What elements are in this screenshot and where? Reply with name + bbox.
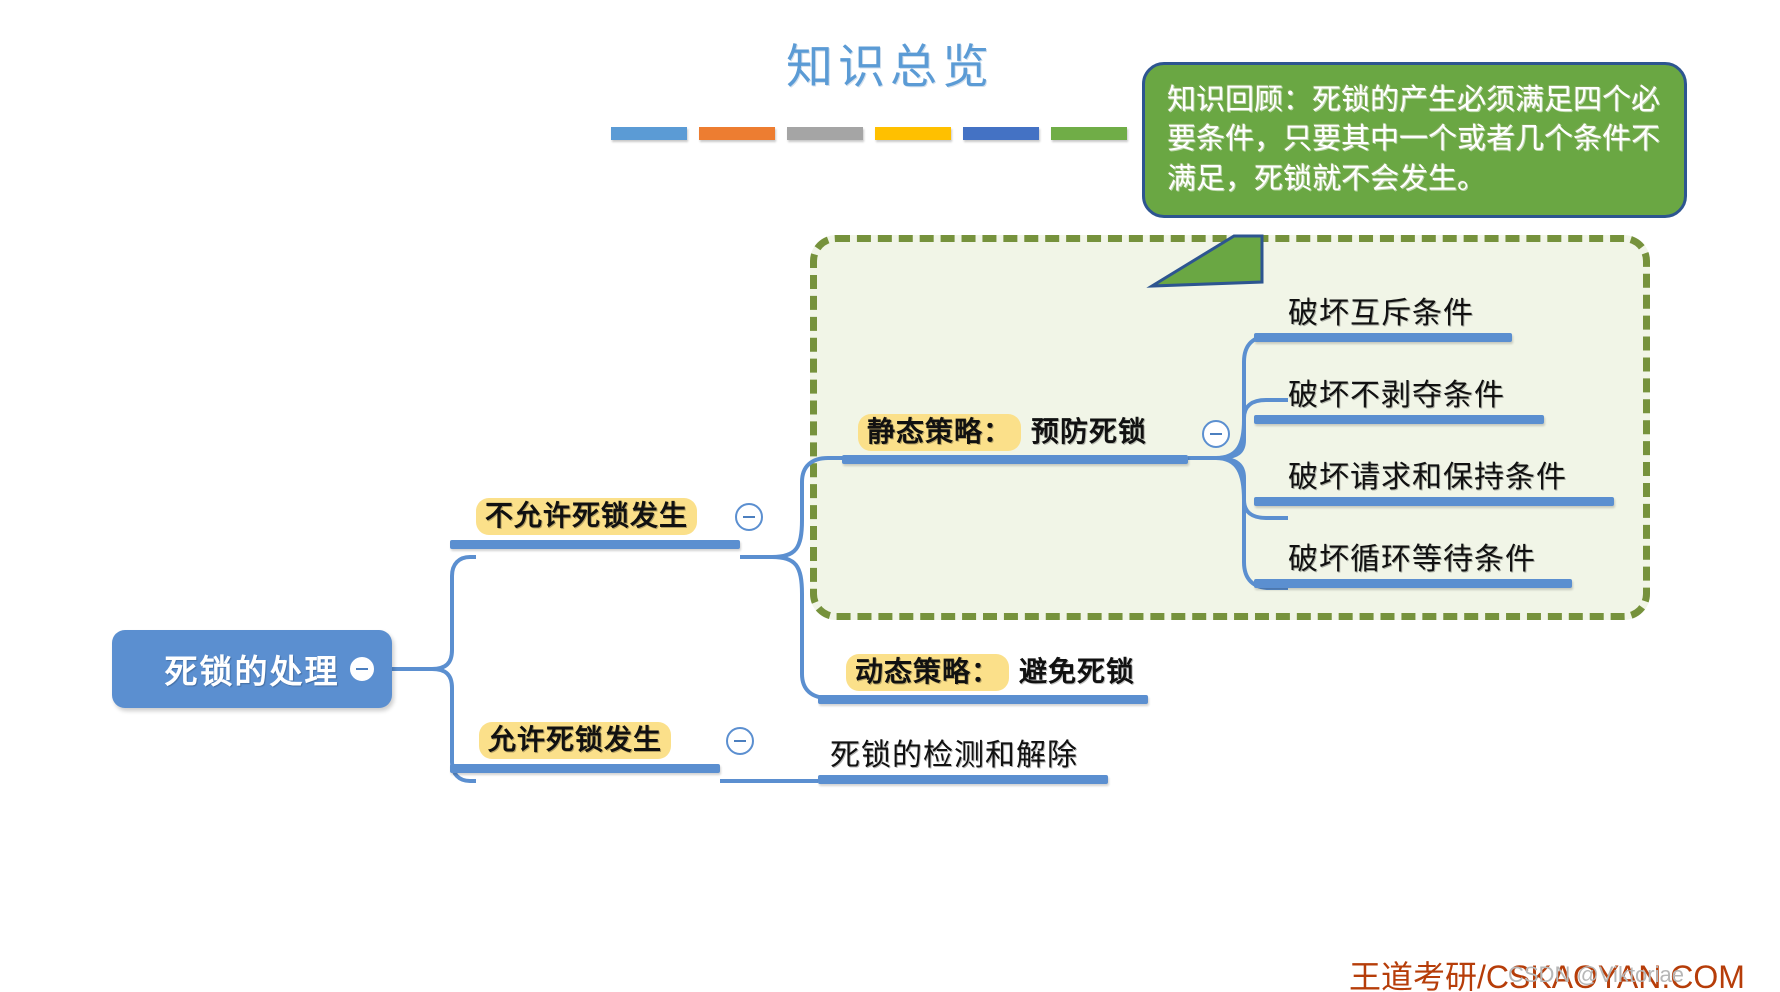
node-dynamic-strategy[interactable]: 动态策略：避免死锁 <box>846 650 1135 690</box>
static-strategy-collapse-toggle[interactable] <box>1202 420 1230 448</box>
detect-and-release-underline <box>818 775 1108 784</box>
leaf-break-hold-and-wait-label: 破坏请求和保持条件 <box>1288 461 1567 494</box>
leaf-break-circular-wait-underline <box>1254 579 1572 588</box>
slide-canvas: 知识总览 知识回顾：死锁的产生必须满足四个必要条件，只要其中一个或者几个条件不满… <box>0 0 1780 992</box>
node-static-strategy[interactable]: 静态策略：预防死锁 <box>858 410 1147 450</box>
branch-allow-deadlock[interactable]: 允许死锁发生 <box>479 718 671 758</box>
leaf-break-circular-wait[interactable]: 破坏循环等待条件 <box>1288 534 1536 578</box>
title-bar-green <box>1051 127 1127 140</box>
branch-allow-collapse-toggle[interactable] <box>726 727 754 755</box>
dynamic-strategy-plain: 避免死锁 <box>1019 656 1135 687</box>
branch-not-allow-label: 不允许死锁发生 <box>476 498 697 535</box>
branch-allow-label: 允许死锁发生 <box>479 722 671 759</box>
leaf-break-no-preemption-underline <box>1254 415 1544 424</box>
dynamic-strategy-underline <box>818 695 1148 704</box>
csdn-watermark: CSDN @Viktoriae <box>1508 962 1684 988</box>
node-detect-and-release[interactable]: 死锁的检测和解除 <box>830 730 1078 774</box>
title-underline-bars <box>611 127 1127 140</box>
leaf-break-hold-and-wait[interactable]: 破坏请求和保持条件 <box>1288 452 1567 496</box>
leaf-break-mutex-label: 破坏互斥条件 <box>1288 297 1474 330</box>
branch-not-allow-collapse-toggle[interactable] <box>735 503 763 531</box>
title-bar-blue <box>611 127 687 140</box>
title-bar-navy <box>963 127 1039 140</box>
branch-not-allow-deadlock[interactable]: 不允许死锁发生 <box>476 494 697 534</box>
static-strategy-underline <box>842 455 1188 464</box>
callout-tail <box>1142 228 1292 288</box>
title-bar-gray <box>787 127 863 140</box>
static-strategy-highlight: 静态策略： <box>858 414 1021 451</box>
root-collapse-toggle[interactable] <box>348 655 376 683</box>
knowledge-recap-callout: 知识回顾：死锁的产生必须满足四个必要条件，只要其中一个或者几个条件不满足，死锁就… <box>1142 62 1687 218</box>
leaf-break-mutex-underline <box>1254 333 1512 342</box>
detect-and-release-label: 死锁的检测和解除 <box>830 739 1078 772</box>
branch-allow-underline <box>450 764 720 773</box>
leaf-break-no-preemption[interactable]: 破坏不剥夺条件 <box>1288 370 1505 414</box>
leaf-break-circular-wait-label: 破坏循环等待条件 <box>1288 543 1536 576</box>
title-bar-yellow <box>875 127 951 140</box>
branch-not-allow-underline <box>450 540 740 549</box>
leaf-break-no-preemption-label: 破坏不剥夺条件 <box>1288 379 1505 412</box>
static-strategy-plain: 预防死锁 <box>1031 416 1147 447</box>
dynamic-strategy-highlight: 动态策略： <box>846 654 1009 691</box>
leaf-break-hold-and-wait-underline <box>1254 497 1614 506</box>
title-bar-orange <box>699 127 775 140</box>
leaf-break-mutex[interactable]: 破坏互斥条件 <box>1288 288 1474 332</box>
